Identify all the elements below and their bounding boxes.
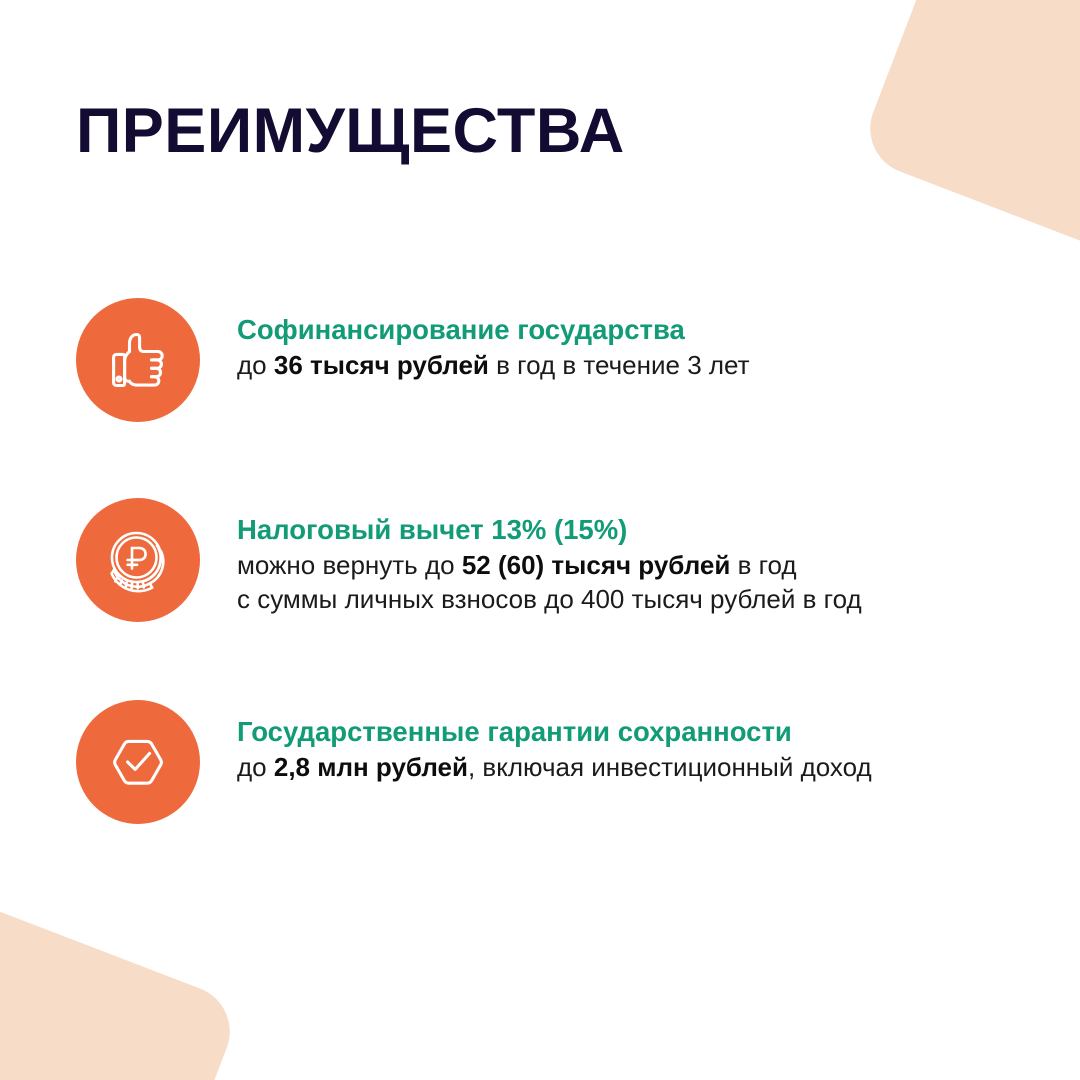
thumbs-up-icon: [76, 298, 200, 422]
feature-body: можно вернуть до 52 (60) тысяч рублей в …: [237, 549, 862, 617]
feature-body: до 36 тысяч рублей в год в течение 3 лет: [237, 349, 750, 383]
feature-body: до 2,8 млн рублей, включая инвестиционны…: [237, 751, 872, 785]
feature-item-tax-deduction: Налоговый вычет 13% (15%) можно вернуть …: [76, 498, 862, 622]
feature-text-block: Налоговый вычет 13% (15%) можно вернуть …: [237, 498, 862, 616]
ruble-coin-icon: [76, 498, 200, 622]
feature-text-block: Государственные гарантии сохранности до …: [237, 700, 872, 785]
feature-heading: Софинансирование государства: [237, 315, 750, 346]
page-title: ПРЕИМУЩЕСТВА: [76, 100, 625, 163]
feature-item-state-guarantee: Государственные гарантии сохранности до …: [76, 700, 872, 824]
feature-text-block: Софинансирование государства до 36 тысяч…: [237, 298, 750, 383]
feature-heading: Налоговый вычет 13% (15%): [237, 515, 862, 546]
hexagon-check-icon: [76, 700, 200, 824]
top-right-peach-shape: [857, 0, 1080, 273]
feature-heading: Государственные гарантии сохранности: [237, 717, 872, 748]
slide-canvas: ПРЕИМУЩЕСТВА Софинансирование государств…: [0, 0, 1080, 1080]
bottom-left-peach-shape: [0, 887, 243, 1080]
feature-item-cofinancing: Софинансирование государства до 36 тысяч…: [76, 298, 750, 422]
